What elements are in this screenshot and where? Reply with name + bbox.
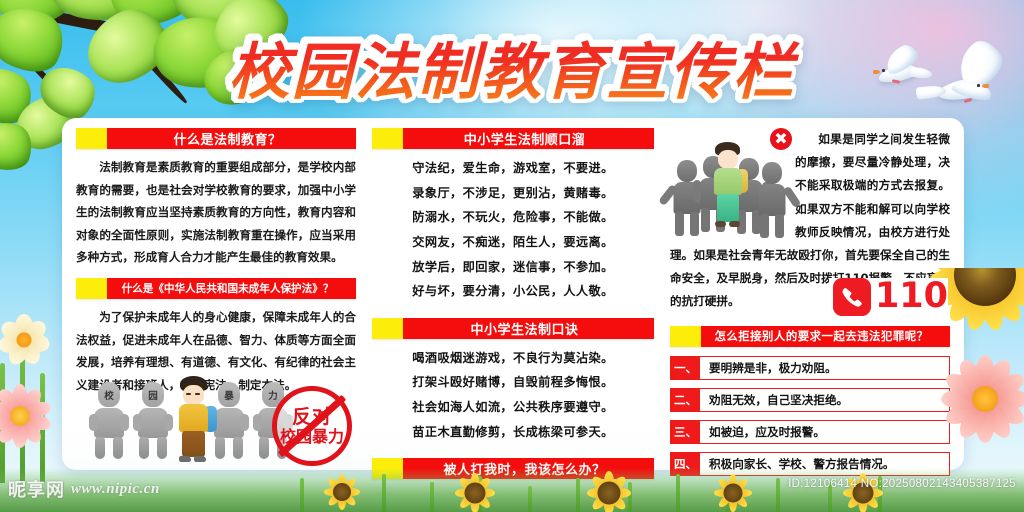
sunflower-icon [452, 470, 498, 512]
emergency-number: 110 [875, 279, 948, 314]
item-number: 一、 [671, 357, 700, 379]
figure-arm [89, 414, 98, 431]
student-eye [195, 393, 200, 395]
emergency-call-badge: 110 [829, 278, 948, 316]
section-header-what-is-legal-education: 什么是法制教育？ [76, 128, 356, 149]
student-shirt [179, 404, 208, 432]
bottom-field-strip [0, 468, 1024, 512]
figure-head [762, 162, 782, 184]
list-item: 交网友，不痴迷，陌生人，要远离。 [372, 230, 654, 255]
figure-leg [701, 208, 710, 232]
content-board: 什么是法制教育？ 法制教育是素质教育的重要组成部分，是学校内部教育的需要，也是社… [62, 118, 964, 470]
list-item: 好与坏，要分清，小公民，人人敬。 [372, 279, 654, 304]
item-number: 三、 [671, 421, 700, 443]
student-shoe [715, 221, 726, 227]
section-header-label: 什么是《中华人民共和国未成年人保护法》？ [107, 278, 356, 299]
figure-leg [259, 437, 269, 459]
list-item: 守法纪，爱生命，游戏室，不要进。 [372, 156, 654, 181]
section-header-label: 中小学生法制口诀 [403, 318, 654, 339]
list-item: 社会如海人如流，公共秩序要遵守。 [372, 395, 654, 420]
anti-violence-stamp: 反对 校园暴力 [272, 386, 352, 466]
figure-leg [775, 214, 784, 238]
legal-formula-list: 喝酒吸烟迷游戏，不良行为莫沾染。 打架斗殴好赌博，自毁前程多悔恨。 社会如海人如… [372, 346, 654, 445]
gray-figure-2: 园 [132, 382, 174, 462]
sunflower-icon [584, 468, 634, 512]
bully-figure-4 [756, 162, 788, 238]
sunflower-icon [322, 472, 362, 512]
student-shoe [729, 221, 740, 227]
section-header-label: 什么是法制教育？ [107, 128, 356, 149]
bullying-advice-block: ✖ 如果是同学之间发生轻微的摩擦，要尽量冷静处理，决不能采取极端的方式去报复。如… [670, 128, 950, 314]
header-chip [372, 318, 403, 339]
figure-arm [133, 414, 142, 431]
header-chip [76, 128, 107, 149]
gray-figure-label: 暴 [218, 382, 240, 407]
anti-school-violence-illustration: 校 园 暴 [78, 374, 356, 466]
gray-figure-1: 校 [88, 382, 130, 462]
student-pants [717, 194, 739, 222]
list-item: 放学后，即回家，迷信事，不参加。 [372, 255, 654, 280]
figure-arm [253, 414, 262, 431]
poster-canvas: 校园法制教育宣传栏 什么是法制教育？ 法制教育是素质教育的重要组成部分，是学校内… [0, 0, 1024, 512]
figure-arm [693, 180, 701, 202]
figure-arm [164, 414, 173, 431]
figure-leg [113, 437, 123, 459]
figure-head [677, 160, 697, 182]
sunflower-icon [840, 470, 886, 512]
figure-arm [120, 414, 129, 431]
student-pants [182, 431, 205, 457]
list-item: 录象厅，不涉足，更别沾，黄赌毒。 [372, 181, 654, 206]
flower-cream [0, 312, 52, 368]
student-shoe [179, 456, 191, 462]
prohibition-slash [278, 395, 347, 458]
sunflower-icon [712, 472, 754, 512]
paragraph-what-is-legal-education: 法制教育是素质教育的重要组成部分，是学校内部教育的需要，也是社会对学校教育的要求… [76, 156, 356, 269]
list-item: 打架斗殴好赌博，自毁前程多悔恨。 [372, 370, 654, 395]
list-item: 苗正木直勤修剪，长成栋梁可参天。 [372, 420, 654, 445]
bullied-student-figure [174, 376, 214, 464]
telephone-icon [833, 278, 871, 316]
figure-leg [139, 437, 149, 459]
header-chip [76, 278, 107, 299]
student-face [718, 150, 738, 169]
section-header-label: 中小学生法制顺口溜 [403, 128, 654, 149]
list-item: 喝酒吸烟迷游戏，不良行为莫沾染。 [372, 346, 654, 371]
figure-leg [215, 437, 225, 459]
student-eye [186, 393, 191, 395]
list-item: 防溺水，不玩火，危险事，不能做。 [372, 205, 654, 230]
figure-leg [675, 212, 684, 236]
flower-pink [936, 350, 1024, 448]
page-title: 校园法制教育宣传栏 [0, 22, 1024, 111]
figure-leg [157, 437, 167, 459]
figure-arm [240, 414, 249, 431]
section-header-legal-formula: 中小学生法制口诀 [372, 318, 654, 339]
header-chip [372, 128, 403, 149]
gray-figure-label: 校 [98, 382, 120, 407]
student-face [183, 385, 204, 405]
student-shirt [714, 168, 742, 195]
figure-leg [233, 437, 243, 459]
bullied-student-figure [710, 142, 746, 238]
flower-pink [0, 380, 56, 452]
figure-leg [760, 214, 769, 238]
student-shoe [194, 456, 206, 462]
figure-leg [95, 437, 105, 459]
left-column: 什么是法制教育？ 法制教育是素质教育的重要组成部分，是学校内部教育的需要，也是社… [76, 128, 356, 462]
left-flower-cluster [0, 268, 64, 483]
figure-torso [759, 184, 786, 216]
bullying-illustration: ✖ [670, 128, 788, 240]
section-header-legal-rhyme: 中小学生法制顺口溜 [372, 128, 654, 149]
header-chip [670, 326, 701, 347]
middle-column: 中小学生法制顺口溜 守法纪，爱生命，游戏室，不要进。 录象厅，不涉足，更别沾，黄… [372, 128, 654, 462]
section-header-minor-protection-law: 什么是《中华人民共和国未成年人保护法》？ [76, 278, 356, 299]
gray-figure-label: 园 [142, 382, 164, 407]
prohibition-x-icon: ✖ [770, 128, 792, 150]
item-number: 二、 [671, 389, 700, 411]
legal-rhyme-list: 守法纪，爱生命，游戏室，不要进。 录象厅，不涉足，更别沾，黄赌毒。 防溺水，不玩… [372, 156, 654, 304]
